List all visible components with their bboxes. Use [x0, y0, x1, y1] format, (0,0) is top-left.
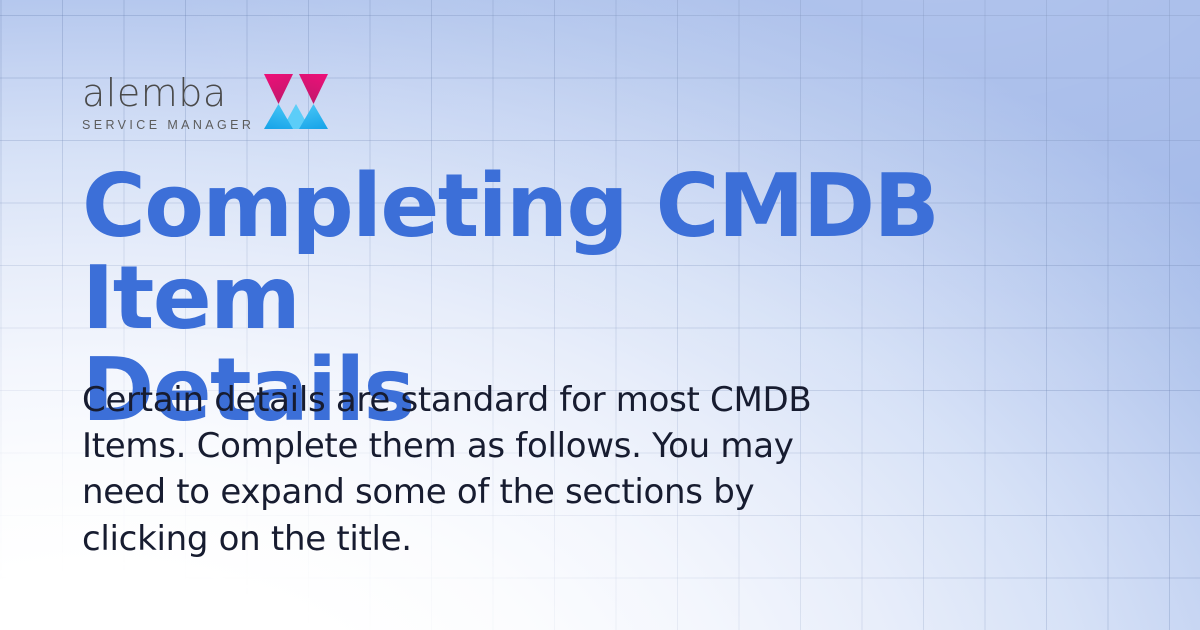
alemba-service-manager-logo: alemba SERVICE MANAGER	[82, 72, 330, 139]
logo-text-block: alemba SERVICE MANAGER	[82, 72, 254, 132]
slide-content: alemba SERVICE MANAGER	[82, 0, 1122, 630]
alemba-x-mark-icon	[262, 71, 330, 139]
logo-tagline: SERVICE MANAGER	[82, 119, 254, 132]
page-description: Certain details are standard for most CM…	[82, 377, 872, 562]
logo-wordmark: alemba	[82, 74, 254, 112]
slide-canvas: alemba SERVICE MANAGER	[0, 0, 1200, 630]
